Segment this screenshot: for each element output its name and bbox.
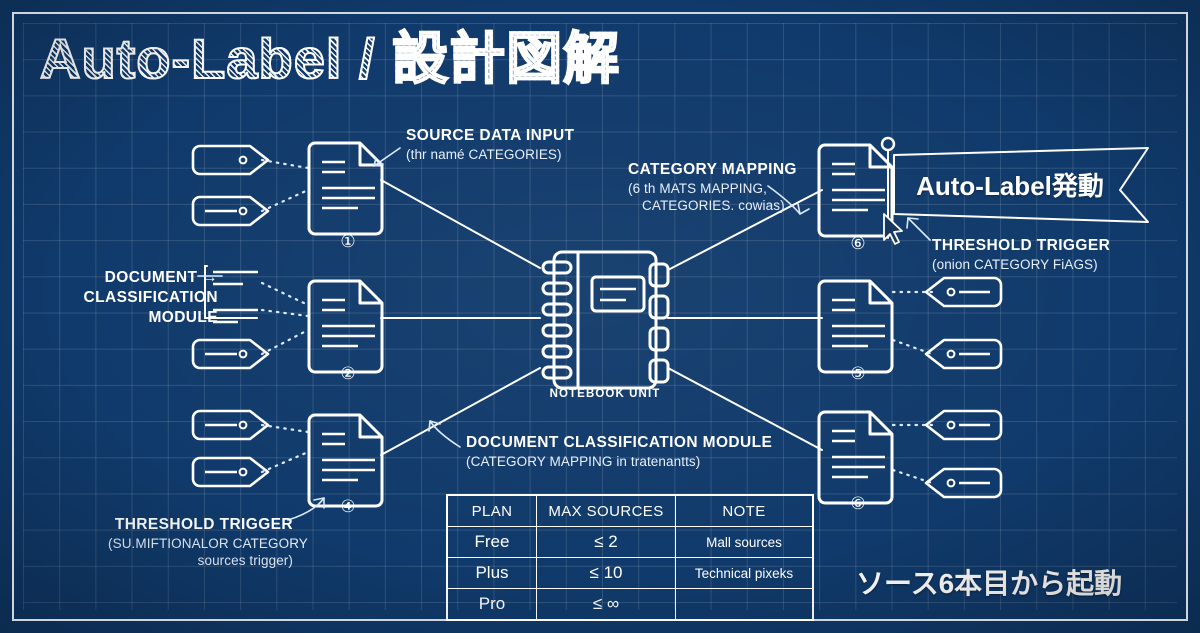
annotation-line-2: CLASSIFICATION <box>58 288 218 308</box>
annotation-document-classification-module-left: DOCUMENT → CLASSIFICATION MODULE <box>58 268 218 327</box>
page-title: Auto-Label / 設計図解 <box>40 28 620 90</box>
blueprint-diagram-canvas: Auto-Label / 設計図解 SOURCE DATA INPUT (thr… <box>0 0 1200 633</box>
cell-max-sources: ≤ 10 <box>537 558 676 589</box>
table-row: Free ≤ 2 Mall sources <box>447 527 813 558</box>
table-row: Plus ≤ 10 Technical pixeks <box>447 558 813 589</box>
doc-number-2: ② <box>328 364 368 384</box>
annotation-head: THRESHOLD TRIGGER <box>932 236 1110 256</box>
annotation-category-mapping: CATEGORY MAPPING (6 th MATS MAPPING, CAT… <box>628 160 797 214</box>
notebook-caption: NOTEBOOK UNIT <box>540 388 670 400</box>
cell-note <box>676 589 814 621</box>
document-icon <box>819 412 892 503</box>
connector-lines <box>381 180 822 455</box>
doc-number-5: ⑤ <box>838 364 878 384</box>
document-icon <box>309 143 382 234</box>
document-icon <box>309 281 382 372</box>
document-icon <box>309 415 382 506</box>
annotation-head: THRESHOLD TRIGGER <box>108 515 293 535</box>
cell-note: Technical pixeks <box>676 558 814 589</box>
cell-plan: Pro <box>447 589 537 621</box>
annotation-line-1: DOCUMENT → <box>58 268 218 288</box>
banner-label: Auto-Label発動 <box>895 166 1125 203</box>
cell-plan: Plus <box>447 558 537 589</box>
document-icon <box>819 281 892 372</box>
annotation-document-classification-module-center: DOCUMENT CLASSIFICATION MODULE (CATEGORY… <box>466 433 772 470</box>
annotation-sub-1: (6 th MATS MAPPING, <box>628 180 797 197</box>
cell-note: Mall sources <box>676 527 814 558</box>
dotted-connectors-right-mid <box>893 292 932 354</box>
doc-number-1: ① <box>328 232 368 252</box>
tag-icon <box>926 278 1001 306</box>
annotation-head: DOCUMENT CLASSIFICATION MODULE <box>466 433 772 453</box>
document-icon <box>819 145 892 236</box>
table-row: Pro ≤ ∞ <box>447 589 813 621</box>
table-header-note: NOTE <box>676 495 814 527</box>
cell-plan: Free <box>447 527 537 558</box>
notebook-tabs <box>650 264 668 382</box>
tag-icon <box>193 458 268 486</box>
notebook-icon <box>543 252 668 388</box>
footer-callout: ソース6本目から起動 <box>856 562 1122 602</box>
tag-icon <box>926 469 1001 497</box>
table-header-max-sources: MAX SOURCES <box>537 495 676 527</box>
annotation-sub-1: (SU.MIFTIONALOR CATEGORY <box>108 535 293 552</box>
annotation-line-3: MODULE <box>58 308 218 328</box>
tag-icon <box>193 146 268 174</box>
tag-icon <box>193 411 268 439</box>
table-header-plan: PLAN <box>447 495 537 527</box>
annotation-sub: (thr namé CATEGORIES) <box>406 146 574 163</box>
dotted-connectors-left-mid <box>262 283 308 354</box>
annotation-source-data-input: SOURCE DATA INPUT (thr namé CATEGORIES) <box>406 126 574 163</box>
annotation-threshold-trigger-bottom: THRESHOLD TRIGGER (SU.MIFTIONALOR CATEGO… <box>108 515 293 569</box>
annotation-threshold-trigger-right: THRESHOLD TRIGGER (onion CATEGORY FiAGS) <box>932 236 1110 273</box>
dotted-connectors-right-bottom <box>893 425 932 483</box>
tag-icon <box>926 411 1001 439</box>
tag-icon <box>926 340 1001 368</box>
notebook-rings <box>543 262 571 378</box>
tag-icon <box>193 197 268 225</box>
cell-max-sources: ≤ ∞ <box>537 589 676 621</box>
doc-number-4: ④ <box>328 497 368 517</box>
annotation-head: CATEGORY MAPPING <box>628 160 797 180</box>
tag-icon <box>193 340 268 368</box>
annotation-sub-2: CATEGORIES. cowias) <box>628 197 797 214</box>
plan-table: PLAN MAX SOURCES NOTE Free ≤ 2 Mall sour… <box>446 494 814 621</box>
doc-number-6-top: ⑥ <box>838 234 878 254</box>
table-header-row: PLAN MAX SOURCES NOTE <box>447 495 813 527</box>
annotation-sub: (onion CATEGORY FiAGS) <box>932 256 1110 273</box>
annotation-sub: (CATEGORY MAPPING in tratenantts) <box>466 453 772 470</box>
dotted-connectors-left-top <box>262 160 308 211</box>
cell-max-sources: ≤ 2 <box>537 527 676 558</box>
annotation-sub-2: sources trigger) <box>108 552 293 569</box>
doc-number-6-bottom: ⑥ <box>838 494 878 514</box>
dotted-connectors-left-bottom <box>262 425 308 472</box>
annotation-head: SOURCE DATA INPUT <box>406 126 574 146</box>
